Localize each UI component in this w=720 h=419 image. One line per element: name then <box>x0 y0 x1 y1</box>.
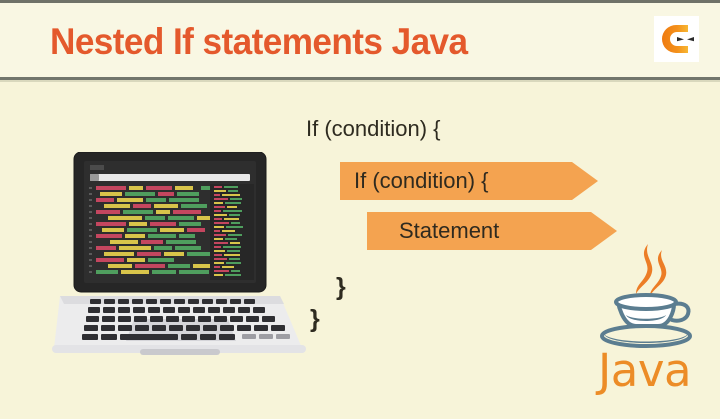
page-title: Nested If statements Java <box>50 20 468 64</box>
banner-statement: Statement <box>367 212 617 250</box>
code-inner-close-brace: } <box>336 274 346 300</box>
banner-statement-label: Statement <box>399 212 499 250</box>
code-outer-if: If (condition) { <box>306 116 441 142</box>
laptop-svg <box>52 152 310 362</box>
codingninjas-c-icon <box>654 16 699 62</box>
java-wordmark: Java <box>598 347 691 395</box>
top-rule <box>0 0 720 3</box>
java-coffee-cup-icon <box>592 240 702 358</box>
banner-inner-if: If (condition) { <box>340 162 598 200</box>
code-outer-close-brace: } <box>310 306 320 332</box>
laptop-illustration <box>52 152 310 362</box>
header-divider-shadow <box>0 80 720 82</box>
java-logo <box>592 240 702 358</box>
slide-canvas: Nested If statements Java <box>0 0 720 419</box>
brand-logo[interactable] <box>654 16 699 62</box>
banner-inner-if-label: If (condition) { <box>354 162 489 200</box>
